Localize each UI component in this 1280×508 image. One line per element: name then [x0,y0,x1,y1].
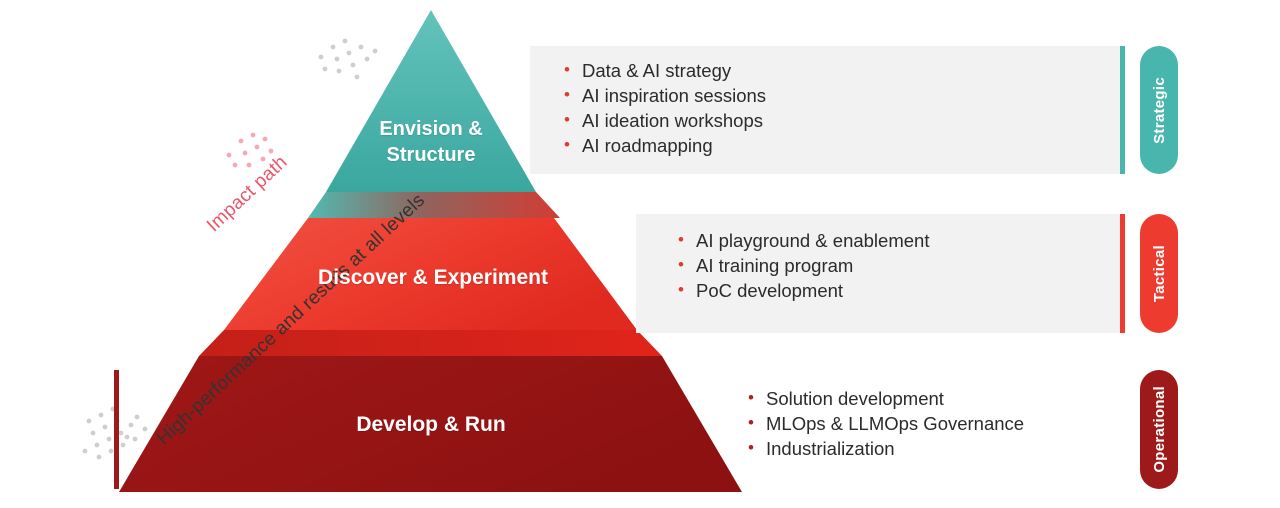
pill-label-strategic: Strategic [1151,77,1168,144]
tier-bullets-operational: Solution development MLOps & LLMOps Gove… [712,370,1125,461]
list-item: MLOps & LLMOps Governance [744,411,1125,436]
list-item: Data & AI strategy [560,58,1125,83]
list-item: AI ideation workshops [560,108,1125,133]
list-item: AI inspiration sessions [560,83,1125,108]
tier-panel-strategic: Data & AI strategy AI inspiration sessio… [530,46,1125,174]
high-performance-label: High-performance and results at all leve… [153,190,430,450]
tier-row-strategic: Data & AI strategy AI inspiration sessio… [530,46,1125,174]
tier-accent-bar-strategic [1120,46,1125,174]
tier-accent-bar-operational [114,370,119,489]
tier-title-strategic-line2: Structure [331,142,531,168]
impact-path-label: Impact path [203,152,292,237]
pill-operational: Operational [1140,370,1178,489]
list-item: PoC development [674,278,1125,303]
tier-panel-operational: Solution development MLOps & LLMOps Gove… [712,370,1125,489]
list-item: AI playground & enablement [674,228,1125,253]
tier-bullets-strategic: Data & AI strategy AI inspiration sessio… [530,46,1125,158]
pill-label-tactical: Tactical [1151,245,1168,302]
tier-title-operational: Develop & Run [281,412,581,438]
pill-label-operational: Operational [1151,386,1168,473]
tier-accent-bar-tactical [1120,214,1125,333]
pill-strategic: Strategic [1140,46,1178,174]
dotted-arrow-texture-icon [75,25,405,475]
list-item: Industrialization [744,436,1125,461]
tier-title-tactical: Discover & Experiment [268,265,598,291]
list-item: AI training program [674,253,1125,278]
tier-title-strategic-line1: Envision & [331,116,531,142]
pill-tactical: Tactical [1140,214,1178,333]
tier-title-strategic: Envision & Structure [331,116,531,168]
tier-panel-tactical: AI playground & enablement AI training p… [636,214,1125,333]
list-item: AI roadmapping [560,133,1125,158]
list-item: Solution development [744,386,1125,411]
tier-bullets-tactical: AI playground & enablement AI training p… [636,214,1125,303]
tier-row-operational: Solution development MLOps & LLMOps Gove… [712,370,1125,489]
tier-row-tactical: AI playground & enablement AI training p… [636,214,1125,333]
